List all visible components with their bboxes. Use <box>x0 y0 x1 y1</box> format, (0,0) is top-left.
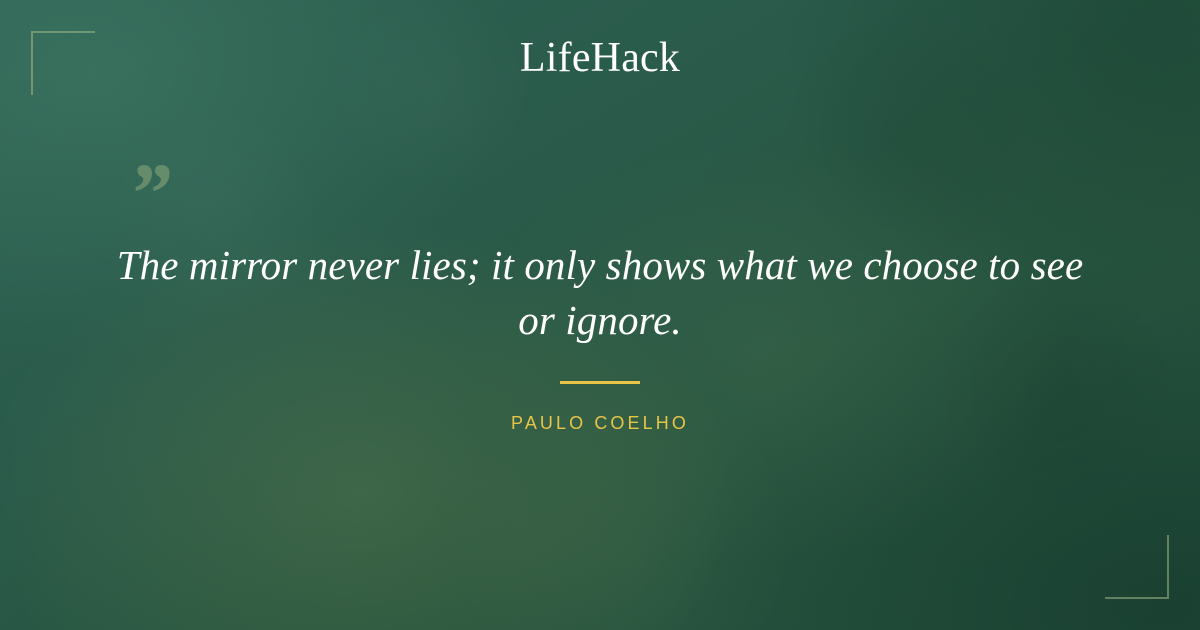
quotation-mark-icon: ” <box>128 150 171 236</box>
quote-block: The mirror never lies; it only shows wha… <box>95 238 1105 348</box>
brand-logo: LifeHack <box>0 37 1200 79</box>
quote-author: PAULO COELHO <box>0 413 1200 434</box>
quote-card: LifeHack ” The mirror never lies; it onl… <box>0 0 1200 630</box>
quote-text: The mirror never lies; it only shows wha… <box>95 238 1105 348</box>
divider-rule <box>560 381 640 384</box>
corner-bracket-bottom-right <box>1105 535 1169 599</box>
